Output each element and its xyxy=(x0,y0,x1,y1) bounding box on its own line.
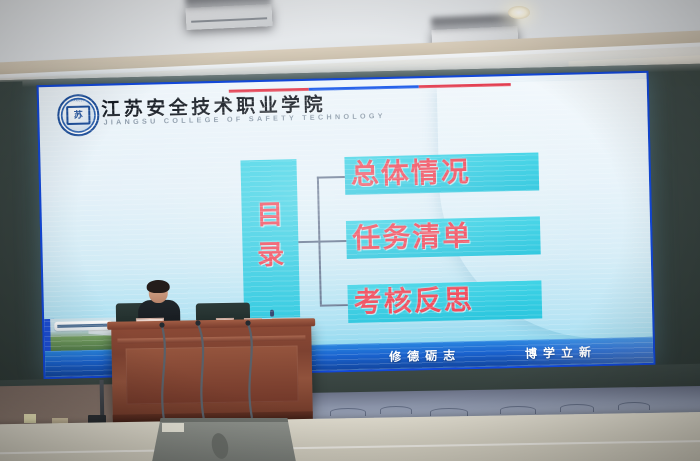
presenter-hair xyxy=(147,280,170,293)
toc-item-2: 任务清单 xyxy=(346,216,541,259)
toc-item-3-label: 考核反思 xyxy=(354,287,475,318)
toc-item-3: 考核反思 xyxy=(347,280,542,323)
toc-title-panel: 目 录 xyxy=(240,159,300,318)
motto-left: 修德砺志 xyxy=(389,346,461,365)
floor-cable-6 xyxy=(618,402,650,410)
toc-connector-stub xyxy=(298,241,318,243)
header-accent-blue xyxy=(309,85,419,91)
toc-connector-branch-1 xyxy=(317,176,345,178)
toc-title-char-2: 录 xyxy=(242,241,299,269)
toc-connector-branch-2 xyxy=(318,240,346,242)
seal-arc-text: JIANGSU xyxy=(59,99,97,103)
ceiling-downlight xyxy=(508,6,530,19)
footer-highlight xyxy=(503,337,654,367)
header-accent-red-right xyxy=(419,83,511,89)
toc-title-char-1: 目 xyxy=(241,201,298,229)
microphone-head-2 xyxy=(195,320,200,325)
microphone-head-3 xyxy=(245,320,250,325)
floor-paper-item xyxy=(24,414,36,423)
campus-train-shape xyxy=(54,321,112,331)
floor-cable-1 xyxy=(330,408,366,416)
microphone-cables xyxy=(140,322,320,422)
laptop-hinge xyxy=(152,418,296,422)
floor-cable-2 xyxy=(380,406,412,414)
lecture-hall-photo: JIANGSU 苏 江苏安全技术职业学院 JIANGSU COLLEGE OF … xyxy=(0,0,700,461)
floor-cable-4 xyxy=(500,406,536,414)
microphone-head-1 xyxy=(159,322,164,327)
toc-item-2-label: 任务清单 xyxy=(352,223,473,254)
laptop-rear-view xyxy=(152,418,296,461)
toc-connector-branch-3 xyxy=(320,304,348,306)
laptop-handle-cutout xyxy=(210,432,231,461)
toc-panel-pin-icon xyxy=(270,310,274,317)
toc-item-1: 总体情况 xyxy=(344,152,539,195)
seal-inner-text: 苏 xyxy=(66,105,90,125)
university-seal-icon: JIANGSU 苏 xyxy=(57,94,100,137)
ceiling-vent-1 xyxy=(186,4,273,30)
toc-item-1-label: 总体情况 xyxy=(351,159,472,190)
laptop-sticker xyxy=(162,423,184,432)
floor-cable-3 xyxy=(430,408,468,416)
floor-cable-5 xyxy=(560,404,594,412)
